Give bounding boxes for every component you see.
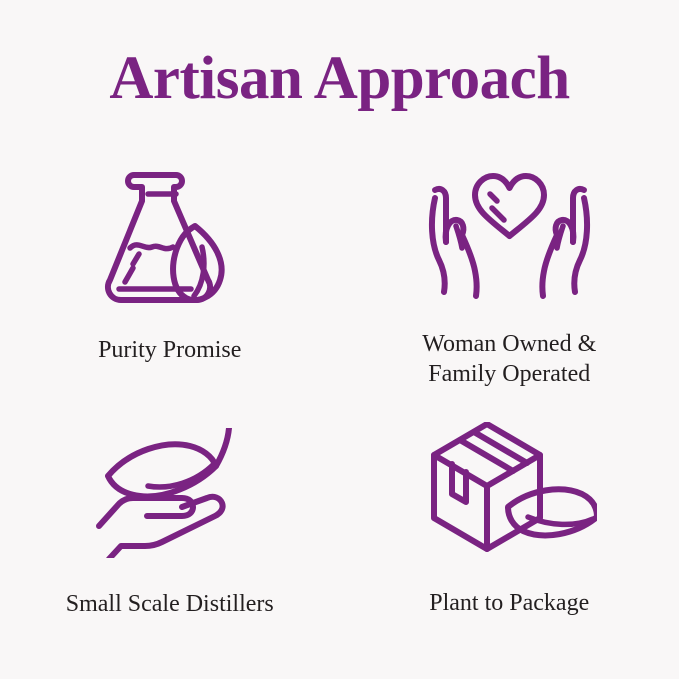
feature-card-small-scale-distillers: Small Scale Distillers: [0, 400, 340, 650]
feature-label-small-scale-distillers: Small Scale Distillers: [66, 589, 274, 619]
hands-holding-heart-icon: [422, 164, 597, 309]
flask-with-leaf-icon: [90, 164, 250, 319]
feature-label-plant-to-package: Plant to Package: [429, 588, 589, 618]
feature-card-purity-promise: Purity Promise: [0, 150, 340, 400]
artisan-approach-infographic: Artisan Approach: [0, 0, 679, 679]
hand-holding-leaf-icon: [90, 428, 250, 563]
feature-label-purity-promise: Purity Promise: [98, 335, 241, 365]
box-with-leaf-icon: [422, 422, 597, 562]
feature-label-woman-owned: Woman Owned & Family Operated: [422, 329, 596, 389]
feature-grid: Purity Promise: [0, 150, 679, 650]
page-title: Artisan Approach: [0, 44, 679, 114]
feature-card-plant-to-package: Plant to Package: [340, 400, 679, 650]
feature-card-woman-owned: Woman Owned & Family Operated: [340, 150, 679, 400]
